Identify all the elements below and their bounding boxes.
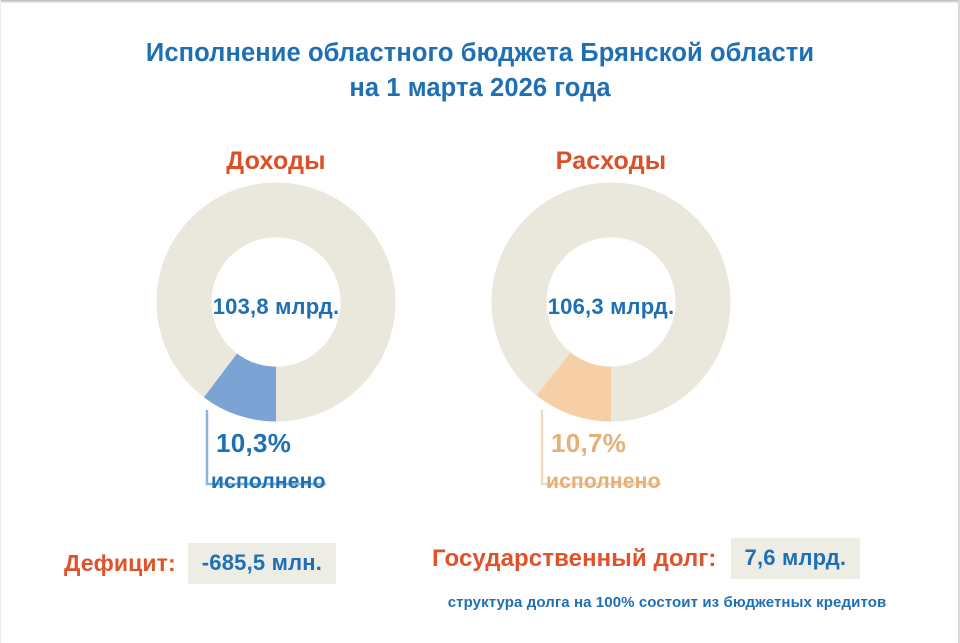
expense-heading: Расходы <box>441 146 781 176</box>
state-debt-row: Государственный долг: 7,6 млрд. <box>432 538 860 579</box>
expense-total-value: 106,3 млрд. <box>491 294 731 320</box>
expense-percent-label: исполнено <box>546 470 661 494</box>
infographic-page: Исполнение областного бюджета Брянской о… <box>0 0 960 643</box>
top-edge-rule <box>0 0 960 3</box>
deficit-value: -685,5 млн. <box>188 543 336 584</box>
income-percent-label: исполнено <box>211 470 326 494</box>
state-debt-value: 7,6 млрд. <box>731 538 861 579</box>
page-title-line-1: Исполнение областного бюджета Брянской о… <box>0 36 960 71</box>
income-panel: Доходы 103,8 млрд. 10,3% и <box>106 146 446 432</box>
expense-donut-wrap: 106,3 млрд. 10,7% исполнено <box>441 182 781 432</box>
income-donut-wrap: 103,8 млрд. 10,3% исполнено <box>106 182 446 432</box>
income-callout: 10,3% исполнено <box>156 406 396 516</box>
page-title-line-2: на 1 марта 2026 года <box>0 71 960 106</box>
income-percent: 10,3% <box>216 428 291 459</box>
income-heading: Доходы <box>106 146 446 176</box>
expense-callout: 10,7% исполнено <box>491 406 731 516</box>
deficit-label: Дефицит: <box>64 550 176 577</box>
state-debt-note: структура долга на 100% состоит из бюдже… <box>432 594 902 611</box>
state-debt-label: Государственный долг: <box>432 545 717 573</box>
expense-percent: 10,7% <box>551 428 626 459</box>
page-title: Исполнение областного бюджета Брянской о… <box>0 36 960 106</box>
deficit-row: Дефицит: -685,5 млн. <box>64 543 336 584</box>
expense-panel: Расходы 106,3 млрд. 10,7% исполнено <box>441 146 781 432</box>
income-total-value: 103,8 млрд. <box>156 294 396 320</box>
